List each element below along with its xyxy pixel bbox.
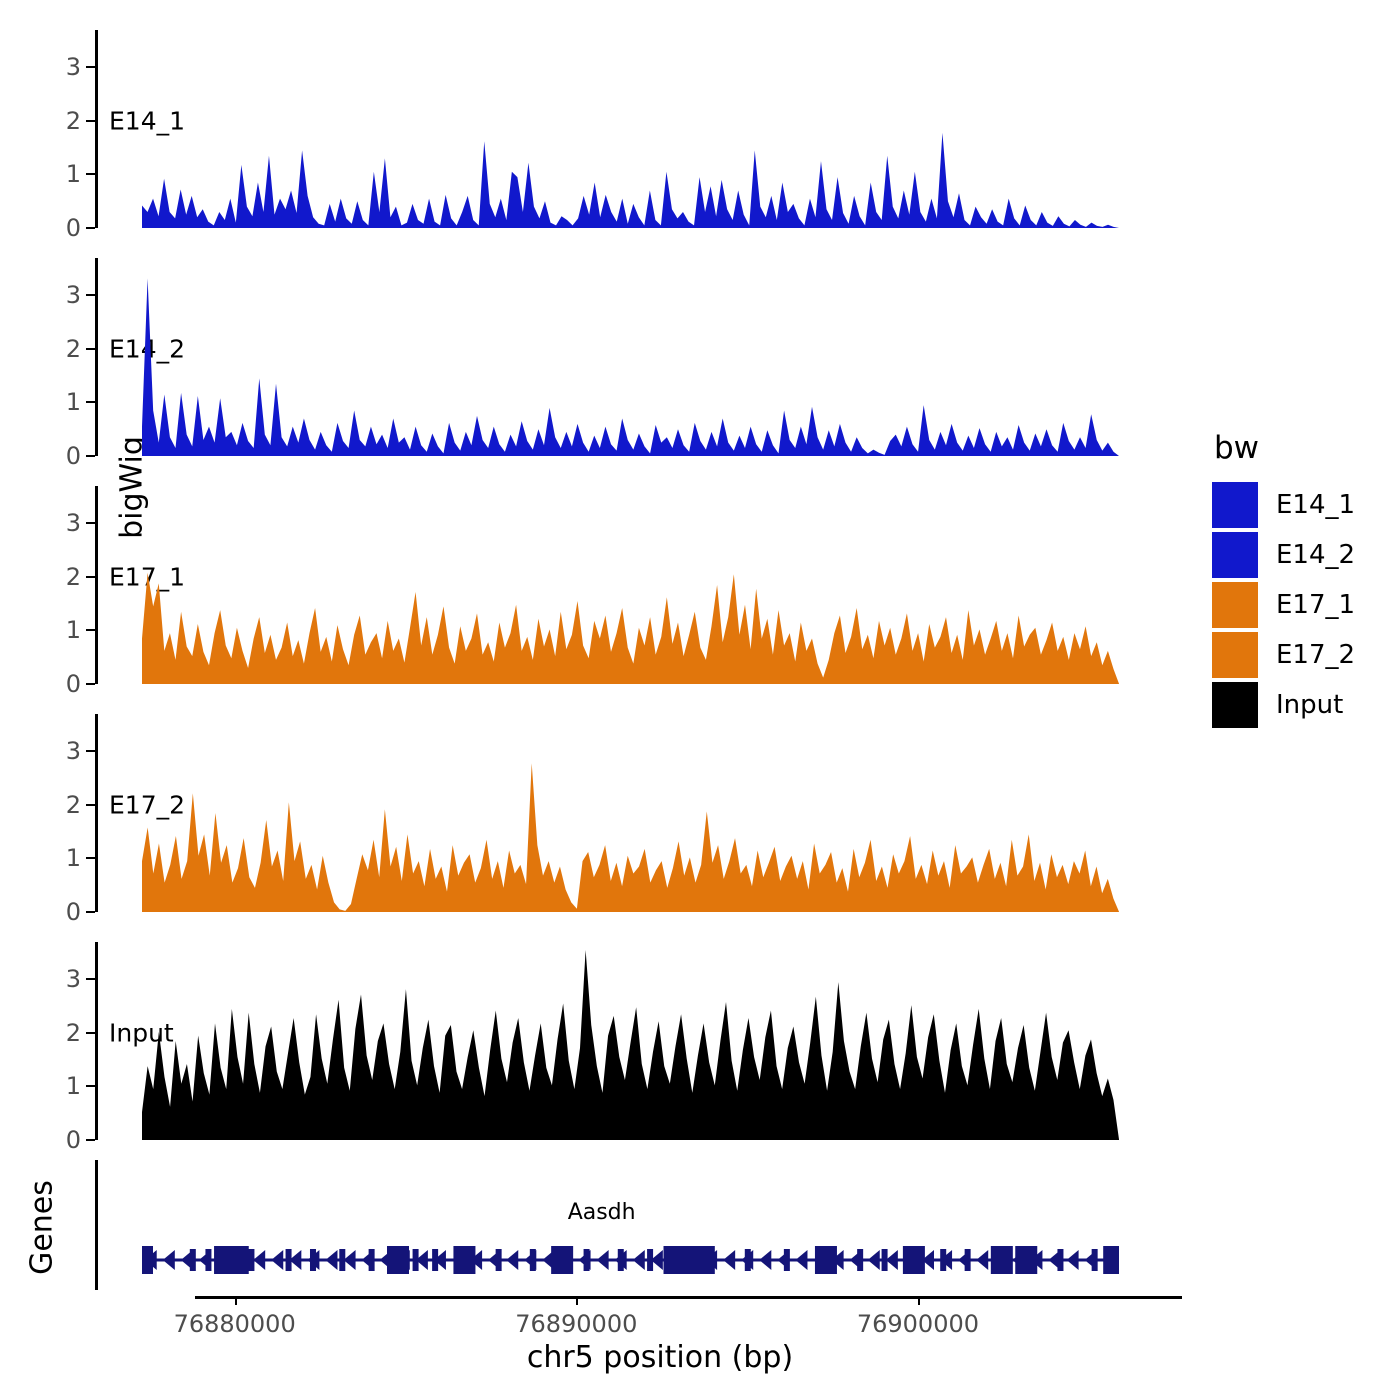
panel-y-axis-line	[95, 486, 98, 684]
y-tick-label: 0	[66, 214, 81, 242]
signal-panel-e14_1: 0123E14_1	[95, 30, 1140, 228]
legend-swatch-input	[1212, 682, 1258, 728]
y-tick-label: 0	[66, 1126, 81, 1154]
y-tick	[86, 522, 95, 524]
y-tick	[86, 629, 95, 631]
x-tick-label: 76890000	[515, 1310, 637, 1338]
signal-track-e17_2	[142, 714, 1119, 912]
signal-track-e14_2	[142, 258, 1119, 456]
y-tick-label: 3	[66, 53, 81, 81]
y-tick	[86, 1139, 95, 1141]
y-tick	[86, 120, 95, 122]
gene-panel: Aasdh	[95, 1160, 1140, 1290]
panel-y-axis-line	[95, 258, 98, 456]
y-tick	[86, 227, 95, 229]
legend-label-input: Input	[1276, 690, 1343, 720]
legend-label-e17_1: E17_1	[1276, 590, 1355, 620]
panel-y-axis-line	[95, 942, 98, 1140]
y-tick-label: 2	[66, 107, 81, 135]
y-tick-label: 0	[66, 670, 81, 698]
y-tick-label: 1	[66, 616, 81, 644]
legend-item-input[interactable]: Input	[1212, 680, 1355, 730]
y-tick	[86, 576, 95, 578]
signal-panel-e17_2: 0123E17_2	[95, 714, 1140, 912]
y-tick	[86, 911, 95, 913]
legend-label-e17_2: E17_2	[1276, 640, 1355, 670]
y-tick-label: 2	[66, 335, 81, 363]
y-tick	[86, 348, 95, 350]
y-tick	[86, 1032, 95, 1034]
panel-y-axis-line	[95, 30, 98, 228]
y-tick-label: 1	[66, 160, 81, 188]
legend-swatch-e14_1	[1212, 482, 1258, 528]
signal-track-input	[142, 942, 1119, 1140]
legend-item-e14_2[interactable]: E14_2	[1212, 530, 1355, 580]
y-tick-label: 1	[66, 1072, 81, 1100]
y-tick-label: 3	[66, 509, 81, 537]
legend-label-e14_1: E14_1	[1276, 490, 1355, 520]
genome-browser-figure: bigWig Genes chr5 position (bp) 0123E14_…	[0, 0, 1400, 1400]
y-tick	[86, 401, 95, 403]
y-tick-label: 3	[66, 965, 81, 993]
y-tick	[86, 66, 95, 68]
x-tick	[576, 1296, 578, 1305]
y-tick-label: 2	[66, 1019, 81, 1047]
gene-model-aasdh[interactable]	[142, 1160, 1119, 1290]
signal-panel-input: 0123Input	[95, 942, 1140, 1140]
legend-item-e17_2[interactable]: E17_2	[1212, 630, 1355, 680]
x-tick	[918, 1296, 920, 1305]
signal-panel-e17_1: 0123E17_1	[95, 486, 1140, 684]
x-tick	[235, 1296, 237, 1305]
y-tick-label: 3	[66, 281, 81, 309]
signal-track-e17_1	[142, 486, 1119, 684]
x-axis-line	[195, 1296, 1182, 1299]
x-axis-title: chr5 position (bp)	[180, 1340, 1140, 1375]
panel-y-axis-line	[95, 714, 98, 912]
y-tick-label: 3	[66, 737, 81, 765]
genes-strip-title: Genes	[25, 1148, 60, 1308]
legend-items: E14_1E14_2E17_1E17_2Input	[1212, 480, 1355, 730]
x-tick-label: 76900000	[857, 1310, 979, 1338]
y-tick-label: 0	[66, 898, 81, 926]
signal-track-e14_1	[142, 30, 1119, 228]
legend-item-e14_1[interactable]: E14_1	[1212, 480, 1355, 530]
y-tick-label: 2	[66, 791, 81, 819]
y-tick	[86, 1085, 95, 1087]
y-tick	[86, 683, 95, 685]
legend: bw E14_1E14_2E17_1E17_2Input	[1212, 430, 1355, 730]
y-tick-label: 2	[66, 563, 81, 591]
y-tick-label: 1	[66, 844, 81, 872]
y-tick	[86, 750, 95, 752]
y-tick	[86, 857, 95, 859]
legend-label-e14_2: E14_2	[1276, 540, 1355, 570]
gene-panel-axis-line	[95, 1160, 98, 1290]
y-tick-label: 1	[66, 388, 81, 416]
y-tick	[86, 294, 95, 296]
legend-swatch-e17_2	[1212, 632, 1258, 678]
legend-title: bw	[1214, 430, 1355, 466]
signal-panel-e14_2: 0123E14_2	[95, 258, 1140, 456]
y-tick	[86, 173, 95, 175]
y-tick	[86, 804, 95, 806]
y-tick-label: 0	[66, 442, 81, 470]
legend-item-e17_1[interactable]: E17_1	[1212, 580, 1355, 630]
legend-swatch-e17_1	[1212, 582, 1258, 628]
x-tick-label: 76880000	[174, 1310, 296, 1338]
y-tick	[86, 978, 95, 980]
y-tick	[86, 455, 95, 457]
legend-swatch-e14_2	[1212, 532, 1258, 578]
